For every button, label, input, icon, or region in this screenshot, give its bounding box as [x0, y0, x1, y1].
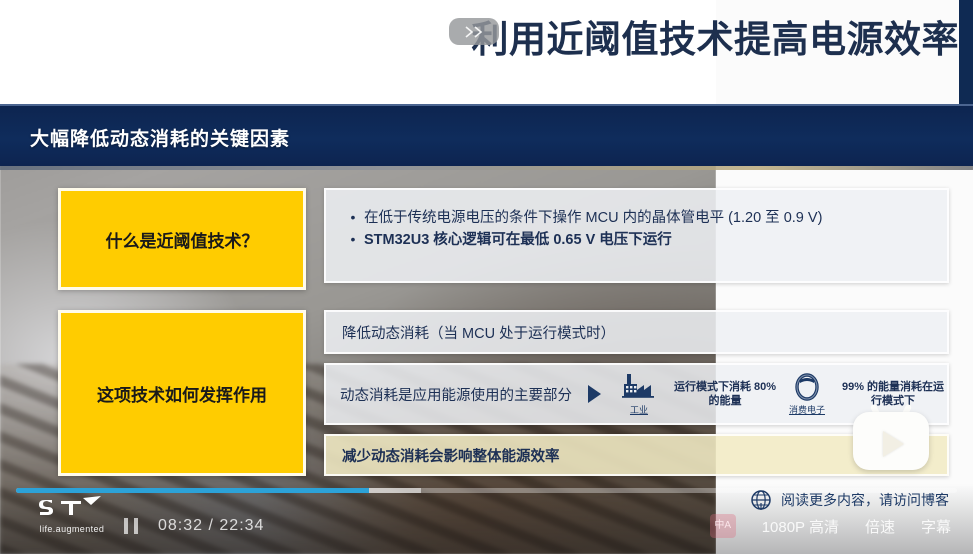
st-logomark-icon: [33, 489, 111, 523]
bullet-list: • 在低于传统电源电压的条件下操作 MCU 内的晶体管电平 (1.20 至 0.…: [326, 190, 947, 252]
st-logo-mark: [33, 489, 111, 523]
stat-item-industrial: 工业 运行模式下消耗 80% 的能量: [613, 373, 779, 416]
bullet-text: STM32U3 核心逻辑可在最低 0.65 V 电压下运行: [364, 229, 672, 251]
slide-header-band: 大幅降低动态消耗的关键因素: [0, 104, 973, 166]
category-box-what-label: 什么是近阈值技术？: [106, 227, 259, 252]
speed-button[interactable]: 倍速: [865, 516, 895, 537]
bullet-item: • STM32U3 核心逻辑可在最低 0.65 V 电压下运行: [342, 229, 947, 251]
translate-icon[interactable]: 中A: [710, 514, 736, 538]
factory-icon: [621, 373, 657, 401]
bullet-text: 在低于传统电源电压的条件下操作 MCU 内的晶体管电平 (1.20 至 0.9 …: [364, 207, 822, 229]
st-logo: life.augmented: [26, 489, 118, 534]
category-box-how: 这项技术如何发挥作用: [58, 310, 306, 476]
category-box-what: 什么是近阈值技术？: [58, 188, 306, 290]
video-player-stage: 利用近阈值技术提高电源效率 大幅降低动态消耗的关键因素 什么是近阈值技术？ 这项…: [0, 0, 973, 554]
factory-icon-label: 工业: [630, 403, 648, 416]
current-time: 08:32: [158, 517, 203, 534]
factory-icon-group: 工业: [613, 373, 665, 416]
category-box-how-label: 这项技术如何发挥作用: [97, 381, 267, 406]
quality-button[interactable]: 1080P 高清: [762, 516, 839, 537]
bullet-marker-icon: •: [342, 207, 364, 229]
triangle-right-icon: [588, 385, 601, 403]
collapse-chip-button[interactable]: [449, 18, 499, 45]
player-controls-row: 08:32 / 22:34 中A 1080P 高清 倍速 字幕: [0, 506, 973, 546]
total-time: 22:34: [219, 517, 264, 534]
pause-bar-left: [124, 518, 128, 534]
content-panel-reduce-dynamic-text: 降低动态消耗（当 MCU 处于运行模式时）: [326, 312, 947, 352]
wearable-icon-group: 消费电子: [781, 373, 833, 416]
play-triangle-icon: [883, 431, 904, 457]
play-badge-icon[interactable]: [853, 404, 929, 470]
player-right-controls: 中A 1080P 高清 倍速 字幕: [710, 514, 973, 538]
globe-icon: [750, 489, 772, 511]
slide-header-underline: [0, 166, 973, 170]
wearable-icon-label: 消费电子: [789, 403, 825, 416]
subtitle-button[interactable]: 字幕: [921, 516, 951, 537]
bullet-item: • 在低于传统电源电压的条件下操作 MCU 内的晶体管电平 (1.20 至 0.…: [342, 207, 947, 229]
stat-lead-text: 动态消耗是应用能源使用的主要部分: [340, 384, 572, 405]
pause-icon[interactable]: [124, 518, 138, 534]
slide-title: 利用近阈值技术提高电源效率: [472, 18, 960, 62]
slide-accent-bar: [959, 0, 973, 104]
translate-glyph-top: 中: [714, 521, 724, 531]
blog-link[interactable]: 阅读更多内容，请访问博客: [750, 489, 949, 511]
bullet-marker-icon: •: [342, 229, 364, 251]
pause-bar-right: [134, 518, 138, 534]
slide-header-title: 大幅降低动态消耗的关键因素: [30, 124, 290, 151]
st-logo-tagline: life.augmented: [40, 524, 105, 534]
stat-industrial-text: 运行模式下消耗 80% 的能量: [671, 380, 779, 409]
time-separator: /: [209, 517, 214, 534]
content-panel-definition: • 在低于传统电源电压的条件下操作 MCU 内的晶体管电平 (1.20 至 0.…: [324, 188, 949, 283]
blog-link-text: 阅读更多内容，请访问博客: [781, 490, 949, 510]
collapse-icon: [463, 24, 485, 40]
wearable-icon: [791, 373, 823, 401]
time-display: 08:32 / 22:34: [158, 517, 264, 535]
content-panel-reduce-dynamic: 降低动态消耗（当 MCU 处于运行模式时）: [324, 310, 949, 354]
translate-glyph-bottom: A: [724, 521, 731, 531]
